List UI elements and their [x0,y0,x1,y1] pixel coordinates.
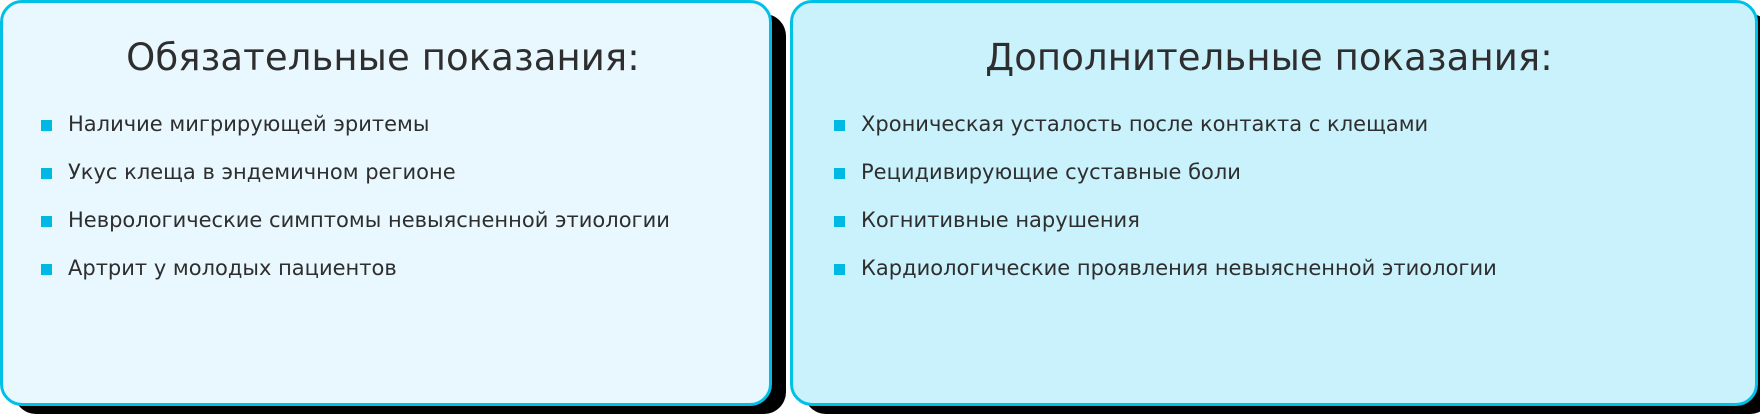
mandatory-indications-list: Наличие мигрирующей эритемы Укус клеща в… [3,111,769,281]
list-item: Артрит у молодых пациентов [41,255,769,281]
list-item: Кардиологические проявления невыясненной… [834,255,1501,281]
list-item-label: Артрит у молодых пациентов [68,255,769,281]
mandatory-indications-title: Обязательные показания: [3,36,769,80]
list-item-label: Наличие мигрирующей эритемы [68,111,769,137]
list-item-label: Укус клеща в эндемичном регионе [68,159,769,185]
list-item: Неврологические симптомы невыясненной эт… [41,207,769,233]
additional-indications-card: Дополнительные показания: Хроническая ус… [790,0,1758,406]
bullet-square-icon [41,216,52,227]
list-item-label: Рецидивирующие суставные боли [861,159,1501,185]
bullet-square-icon [41,120,52,131]
list-item-label: Хроническая усталость после контакта с к… [861,111,1501,137]
additional-indications-title: Дополнительные показания: [793,36,1755,80]
bullet-square-icon [834,168,845,179]
bullet-square-icon [834,264,845,275]
list-item-label: Неврологические симптомы невыясненной эт… [68,207,769,233]
list-item: Хроническая усталость после контакта с к… [834,111,1501,137]
bullet-square-icon [834,120,845,131]
list-item: Рецидивирующие суставные боли [834,159,1501,185]
list-item-label: Кардиологические проявления невыясненной… [861,255,1501,281]
list-item: Наличие мигрирующей эритемы [41,111,769,137]
bullet-square-icon [41,264,52,275]
list-item: Укус клеща в эндемичном регионе [41,159,769,185]
bullet-square-icon [834,216,845,227]
mandatory-indications-card: Обязательные показания: Наличие мигрирую… [0,0,772,406]
list-item-label: Когнитивные нарушения [861,207,1501,233]
list-item: Когнитивные нарушения [834,207,1501,233]
slide-canvas: Обязательные показания: Наличие мигрирую… [0,0,1760,410]
bullet-square-icon [41,168,52,179]
additional-indications-list: Хроническая усталость после контакта с к… [793,111,1755,281]
